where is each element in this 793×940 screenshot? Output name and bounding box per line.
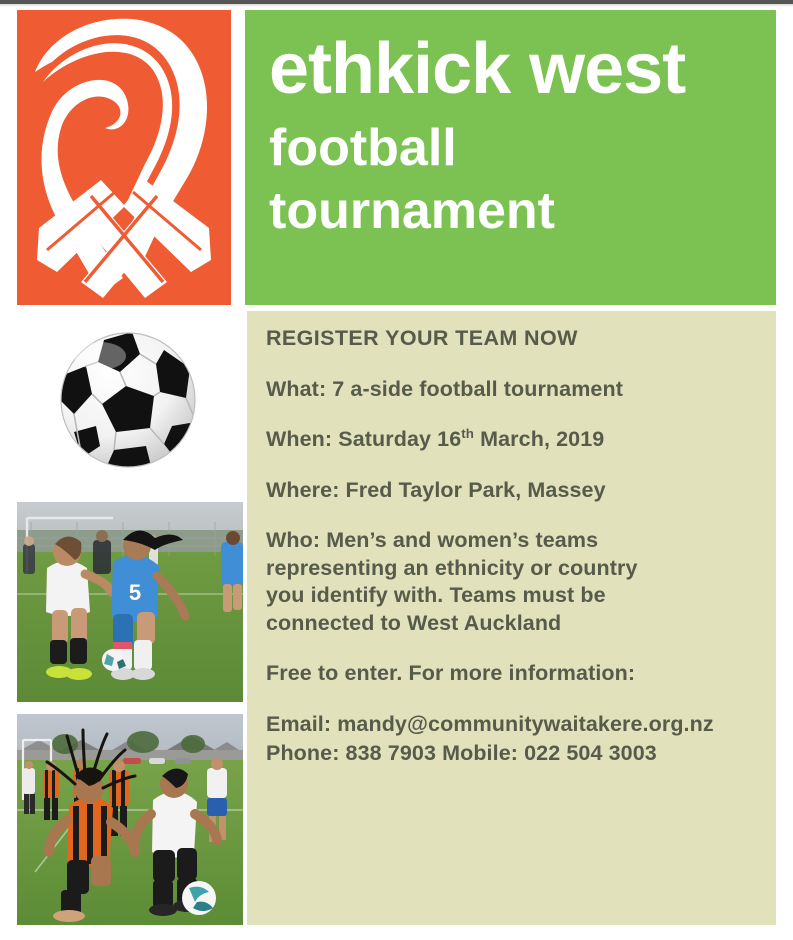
when-row: When: Saturday 16th March, 2019 xyxy=(266,426,768,454)
what-value: 7 a-side football tournament xyxy=(332,377,623,401)
info-panel-content: REGISTER YOUR TEAM NOW What: 7 a-side fo… xyxy=(266,325,768,768)
koru-ribbon-logo-icon xyxy=(17,10,231,305)
spacer xyxy=(266,403,768,426)
poster-title: ethkick west xyxy=(269,34,685,105)
who-row-line-1: Who: Men’s and women’s teams xyxy=(266,527,768,555)
when-label: When: xyxy=(266,427,332,451)
poster-subtitle-football: football xyxy=(269,122,457,174)
spacer xyxy=(266,353,768,376)
poster-canvas: ethkick west football tournament xyxy=(0,0,793,940)
photo-match-orange-white-image xyxy=(17,714,243,925)
what-row: What: 7 a-side football tournament xyxy=(266,376,768,404)
where-row: Where: Fred Taylor Park, Massey xyxy=(266,477,768,505)
who-row-line-2: representing an ethnicity or country xyxy=(266,555,768,583)
spacer xyxy=(266,504,768,527)
viewer-top-shadow xyxy=(0,4,793,7)
soccer-ball-icon xyxy=(48,322,213,482)
who-label: Who: xyxy=(266,528,320,552)
svg-text:5: 5 xyxy=(129,580,141,605)
photo-match-orange-white xyxy=(17,714,243,925)
when-day: Saturday 16 xyxy=(338,427,461,451)
where-value: Fred Taylor Park, Massey xyxy=(346,478,606,502)
when-rest: March, 2019 xyxy=(474,427,604,451)
register-heading: REGISTER YOUR TEAM NOW xyxy=(266,325,768,353)
free-to-enter-row: Free to enter. For more information: xyxy=(266,660,768,688)
when-ordinal-suffix: th xyxy=(461,426,474,441)
what-label: What: xyxy=(266,377,326,401)
who-value-1: Men’s and women’s teams xyxy=(326,528,598,552)
poster-subtitle-tournament: tournament xyxy=(269,185,555,237)
phone-row[interactable]: Phone: 838 7903 Mobile: 022 504 3003 xyxy=(266,740,768,768)
spacer xyxy=(266,637,768,660)
email-row[interactable]: Email: mandy@communitywaitakere.org.nz xyxy=(266,711,768,739)
who-row-line-4: connected to West Auckland xyxy=(266,610,768,638)
logo-tile xyxy=(17,10,231,305)
soccer-ball-image xyxy=(48,322,213,482)
spacer xyxy=(266,688,768,711)
where-label: Where: xyxy=(266,478,339,502)
photo-match-blue-white: 5 xyxy=(17,502,243,702)
title-tile: ethkick west football tournament xyxy=(245,10,776,305)
who-row-line-3: you identify with. Teams must be xyxy=(266,582,768,610)
photo-match-blue-white-image: 5 xyxy=(17,502,243,702)
info-panel: REGISTER YOUR TEAM NOW What: 7 a-side fo… xyxy=(247,311,776,925)
spacer xyxy=(266,454,768,477)
